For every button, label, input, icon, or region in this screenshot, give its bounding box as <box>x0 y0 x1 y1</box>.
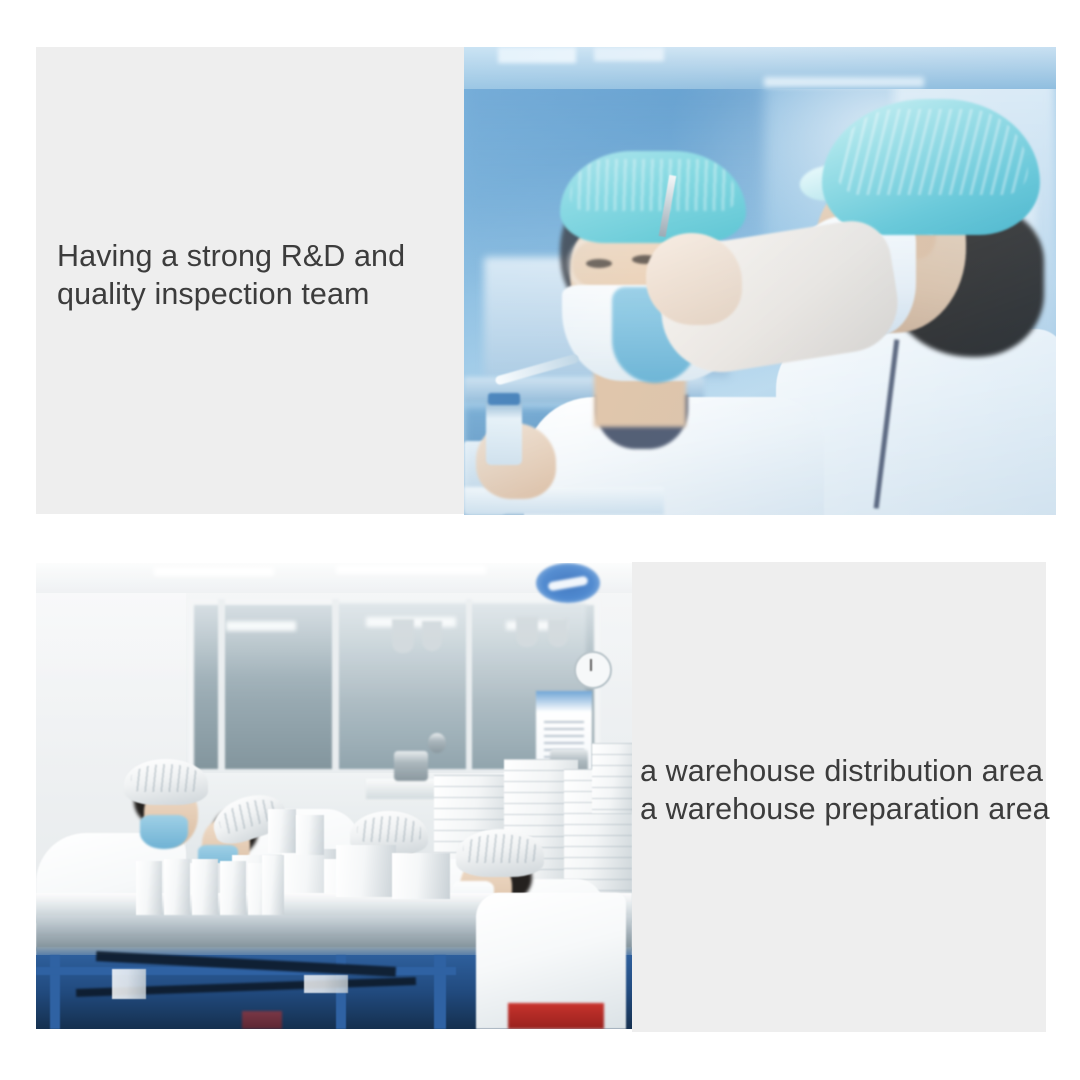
lab-photo-artwork <box>464 47 1056 515</box>
section-rd-quality: Having a strong R&D and quality inspecti… <box>36 47 1056 515</box>
warehouse-photo-artwork <box>36 563 632 1029</box>
caption-rd-quality: Having a strong R&D and quality inspecti… <box>57 237 457 313</box>
caption-warehouse: a warehouse distribution area a warehous… <box>640 752 1060 828</box>
section-warehouse: a warehouse distribution area a warehous… <box>36 560 1046 1032</box>
photo-lab-inspection <box>464 47 1056 515</box>
photo-warehouse-packing <box>36 563 632 1029</box>
